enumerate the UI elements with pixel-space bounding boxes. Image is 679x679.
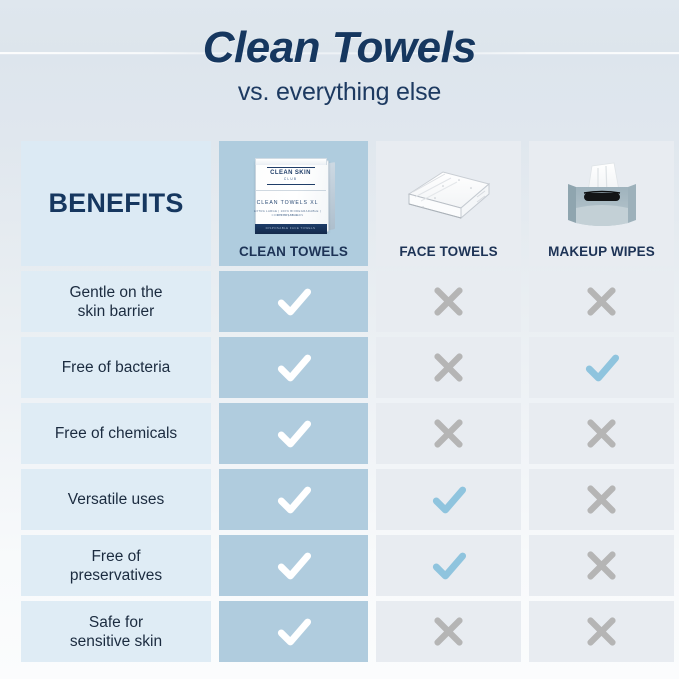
benefit-label-cell: Safe forsensitive skin — [21, 601, 211, 662]
cross-icon — [430, 283, 467, 320]
mark-cell-clean-towels — [219, 337, 368, 398]
mark-cell-makeup-wipes — [529, 271, 674, 332]
comparison-table: BENEFITS CLEAN SKIN CLUB CLEAN TOWELS XL… — [21, 141, 658, 662]
cross-icon — [430, 415, 467, 452]
check-icon-white — [274, 282, 314, 322]
mark-cell-clean-towels — [219, 469, 368, 530]
benefit-label-cell: Free ofpreservatives — [21, 535, 211, 596]
cross-icon — [430, 613, 467, 650]
cross-icon — [583, 481, 620, 518]
mark-cell-face-towels — [376, 271, 521, 332]
title-block: Clean Towels vs. everything else — [0, 24, 679, 106]
comparison-infographic: Clean Towels vs. everything else BENEFIT… — [0, 0, 679, 679]
product-brand-logo: CLEAN SKIN CLUB — [267, 167, 315, 185]
benefit-label-cell: Free of bacteria — [21, 337, 211, 398]
mark-cell-makeup-wipes — [529, 469, 674, 530]
wipes-pack-icon-area — [529, 141, 674, 244]
column-header-clean-towels: CLEAN SKIN CLUB CLEAN TOWELS XL EXTRA LA… — [219, 141, 368, 266]
mark-cell-face-towels — [376, 403, 521, 464]
check-icon-blue — [582, 348, 622, 388]
benefit-label: Safe forsensitive skin — [70, 613, 162, 651]
mark-cell-face-towels — [376, 601, 521, 662]
benefit-label: Free of bacteria — [62, 358, 171, 377]
benefit-label: Versatile uses — [68, 490, 165, 509]
page-subtitle: vs. everything else — [0, 78, 679, 106]
column-label-clean-towels: CLEAN TOWELS — [239, 244, 348, 259]
benefit-label: Free ofpreservatives — [70, 547, 162, 585]
product-count-text: COUNT 50 | 50 PADS — [251, 214, 325, 217]
product-base-text: DISPOSABLE FACE TOWELS — [255, 226, 327, 230]
mark-cell-makeup-wipes — [529, 535, 674, 596]
product-box-base: DISPOSABLE FACE TOWELS — [255, 224, 327, 234]
column-label-makeup-wipes: MAKEUP WIPES — [548, 244, 655, 259]
wipes-pack-icon — [556, 158, 648, 232]
column-label-face-towels: FACE TOWELS — [399, 244, 497, 259]
mark-cell-face-towels — [376, 469, 521, 530]
column-header-makeup-wipes: MAKEUP WIPES — [529, 141, 674, 266]
check-icon-white — [274, 348, 314, 388]
benefit-label: Free of chemicals — [55, 424, 177, 443]
cross-icon — [583, 415, 620, 452]
product-name-text: CLEAN TOWELS XL — [251, 200, 325, 206]
mark-cell-face-towels — [376, 337, 521, 398]
cross-icon — [583, 283, 620, 320]
benefit-label: Gentle on theskin barrier — [69, 283, 162, 321]
benefit-label-cell: Gentle on theskin barrier — [21, 271, 211, 332]
folded-towel-icon — [399, 160, 499, 230]
folded-towel-icon-area — [376, 141, 521, 244]
page-title: Clean Towels — [0, 24, 679, 72]
check-icon-white — [274, 414, 314, 454]
brand-name-line1: CLEAN SKIN — [270, 170, 311, 177]
cross-icon — [430, 349, 467, 386]
mark-cell-makeup-wipes — [529, 403, 674, 464]
column-header-face-towels: FACE TOWELS — [376, 141, 521, 266]
benefit-label-cell: Versatile uses — [21, 469, 211, 530]
benefits-header-cell: BENEFITS — [21, 141, 211, 266]
product-box-icon: CLEAN SKIN CLUB CLEAN TOWELS XL EXTRA LA… — [251, 156, 337, 234]
mark-cell-clean-towels — [219, 271, 368, 332]
benefit-label-cell: Free of chemicals — [21, 403, 211, 464]
check-icon-white — [274, 480, 314, 520]
benefits-header-label: BENEFITS — [48, 188, 183, 219]
cross-icon — [583, 547, 620, 584]
product-box-crease — [256, 190, 326, 191]
mark-cell-clean-towels — [219, 535, 368, 596]
product-box-icon-area: CLEAN SKIN CLUB CLEAN TOWELS XL EXTRA LA… — [219, 141, 368, 244]
check-icon-white — [274, 612, 314, 652]
product-box-lid — [255, 158, 327, 165]
mark-cell-face-towels — [376, 535, 521, 596]
mark-cell-makeup-wipes — [529, 601, 674, 662]
mark-cell-clean-towels — [219, 601, 368, 662]
check-icon-blue — [429, 480, 469, 520]
cross-icon — [583, 613, 620, 650]
mark-cell-makeup-wipes — [529, 337, 674, 398]
check-icon-white — [274, 546, 314, 586]
check-icon-blue — [429, 546, 469, 586]
mark-cell-clean-towels — [219, 403, 368, 464]
brand-name-line2: CLUB — [284, 177, 297, 181]
